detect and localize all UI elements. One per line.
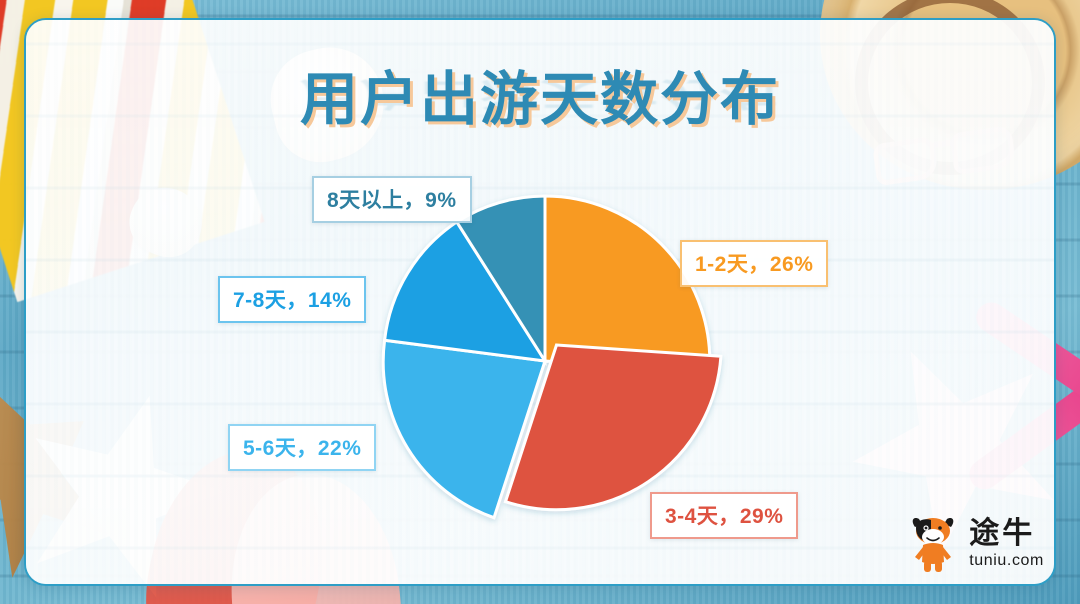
pie-label-8-plus-days[interactable]: 8天以上，9% [312, 176, 472, 223]
pie-label-5-6-days[interactable]: 5-6天，22% [228, 424, 376, 471]
pie-slices [383, 196, 721, 518]
logo-brand-name: 途牛 [969, 519, 1044, 549]
slide-canvas: 用户出游天数分布 用户出游天数分布 [0, 0, 1080, 604]
pie-chart [370, 186, 720, 536]
tuniu-logo[interactable]: 途牛 tuniu.com [907, 514, 1044, 574]
cow-mascot-icon [907, 514, 959, 574]
logo-url: tuniu.com [969, 553, 1044, 569]
pie-label-3-4-days[interactable]: 3-4天，29% [650, 492, 798, 539]
pie-label-1-2-days[interactable]: 1-2天，26% [680, 240, 828, 287]
page-title: 用户出游天数分布 [0, 52, 1080, 136]
pie-label-7-8-days[interactable]: 7-8天，14% [218, 276, 366, 323]
pie-chart-svg [370, 186, 720, 536]
logo-wordmark: 途牛 tuniu.com [969, 519, 1044, 569]
